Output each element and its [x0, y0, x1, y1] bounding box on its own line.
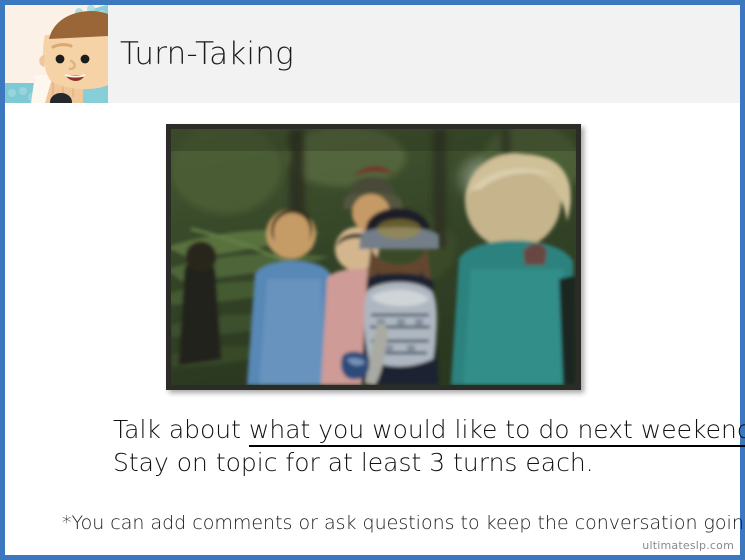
instruction-line-1-underlined: what you would like to do next weekend [249, 415, 745, 447]
avatar [5, 5, 108, 103]
page-title: Turn-Taking [120, 39, 294, 70]
slide-canvas: Turn-Taking [5, 5, 740, 555]
instruction-text: Talk about what you would like to do nex… [113, 413, 723, 479]
photo-container [166, 124, 581, 390]
avatar-eye-left [56, 55, 65, 64]
instruction-line-2: Stay on topic for at least 3 turns each. [113, 446, 723, 479]
footnote-text: *You can add comments or ask questions t… [62, 511, 745, 535]
avatar-eye-right [81, 55, 90, 64]
avatar-illustration [5, 5, 108, 103]
instruction-line-1-prefix: Talk about [113, 415, 249, 444]
slide-header: Turn-Taking [5, 5, 740, 103]
instruction-line-1: Talk about what you would like to do nex… [113, 413, 723, 446]
watermark: ultimateslp.com [642, 539, 734, 552]
hikers-photo-illustration [166, 124, 581, 390]
hikers-photo [166, 124, 581, 390]
slide-frame: Turn-Taking [0, 0, 745, 560]
